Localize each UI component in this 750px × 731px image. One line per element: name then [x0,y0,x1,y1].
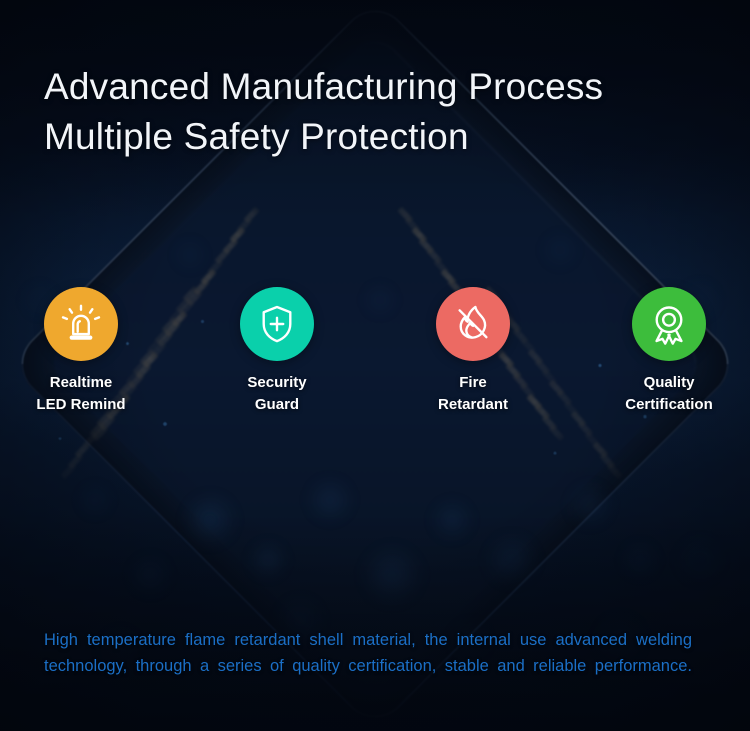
feature-label: Realtime LED Remind [36,372,125,416]
feature-item-security-guard: Security Guard [222,287,332,416]
feature-item-fire-retardant: Fire Retardant [418,287,528,416]
page-title: Advanced Manufacturing Process Multiple … [44,62,603,162]
feature-label-line-1: Quality [644,374,695,391]
feature-label-line-2: Retardant [438,396,508,413]
no-fire-icon [451,302,495,346]
content-root: Advanced Manufacturing Process Multiple … [0,0,750,731]
feature-label-line-1: Realtime [50,374,113,391]
feature-label: Fire Retardant [438,372,508,416]
feature-label-line-2: LED Remind [36,396,125,413]
feature-icon-badge [632,287,706,361]
feature-icon-badge [240,287,314,361]
page-title-line-2: Multiple Safety Protection [44,112,603,162]
feature-label: Security Guard [247,372,306,416]
page-title-line-1: Advanced Manufacturing Process [44,62,603,112]
shield-plus-icon [255,302,299,346]
feature-item-realtime-led-remind: Realtime LED Remind [26,287,136,416]
feature-label-line-2: Guard [255,396,299,413]
feature-icon-badge [44,287,118,361]
feature-label-line-1: Fire [459,374,487,391]
award-ribbon-icon [647,302,691,346]
feature-label-line-2: Certification [625,396,713,413]
feature-icon-badge [436,287,510,361]
feature-label-line-1: Security [247,374,306,391]
feature-label: Quality Certification [625,372,713,416]
feature-item-quality-certification: Quality Certification [614,287,724,416]
feature-list: Realtime LED Remind Security Guard [0,287,750,416]
description-paragraph: High temperature flame retardant shell m… [44,627,692,705]
siren-alarm-icon [59,302,103,346]
